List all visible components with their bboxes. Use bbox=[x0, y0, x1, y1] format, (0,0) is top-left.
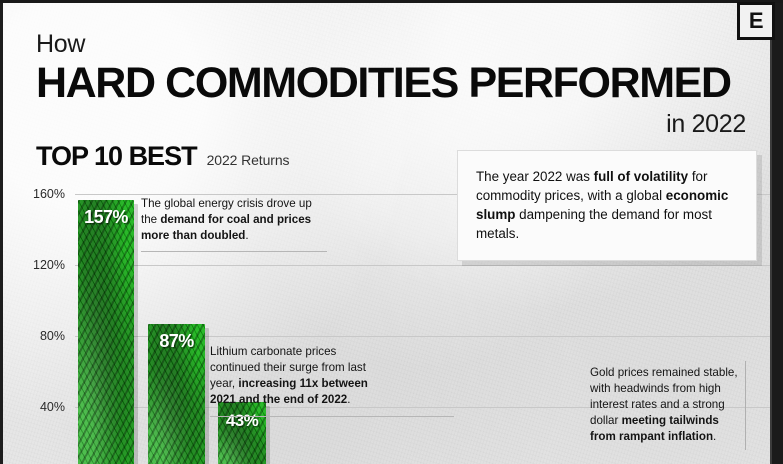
header-kicker: How bbox=[36, 32, 752, 57]
y-axis-tick-label: 120% bbox=[5, 258, 65, 272]
bar-value-label: 157% bbox=[78, 207, 134, 228]
top-border bbox=[0, 0, 783, 3]
annotation-lithium: Lithium carbonate prices continued their… bbox=[210, 344, 380, 408]
infographic-poster: E How HARD COMMODITIES PERFORMED in 2022… bbox=[0, 0, 783, 464]
y-axis-tick-label: 160% bbox=[5, 187, 65, 201]
bar-texture bbox=[78, 200, 134, 464]
y-axis-tick-label: 40% bbox=[5, 400, 65, 414]
header-subtitle: in 2022 bbox=[36, 110, 752, 139]
bar-lithium[interactable]: 87% bbox=[148, 324, 205, 464]
section-note: 2022 Returns bbox=[207, 152, 290, 168]
right-border bbox=[770, 0, 783, 464]
annotation-lithium-rule bbox=[210, 416, 454, 417]
annotation-gold-text-2: . bbox=[713, 430, 716, 443]
y-axis-tick-label: 80% bbox=[5, 329, 65, 343]
callout-text-bold-1: full of volatility bbox=[594, 169, 688, 184]
page-header: How HARD COMMODITIES PERFORMED in 2022 bbox=[36, 32, 752, 139]
callout-text-1: The year 2022 was bbox=[476, 169, 594, 184]
bar-value-label: 43% bbox=[218, 411, 266, 431]
annotation-coal-text-2: . bbox=[245, 229, 248, 242]
annotation-coal: The global energy crisis drove up the de… bbox=[141, 196, 323, 244]
annotation-lithium-text-2: . bbox=[347, 393, 350, 406]
section-heading: TOP 10 BEST 2022 Returns bbox=[36, 143, 289, 170]
gridline bbox=[75, 265, 770, 266]
callout-box: The year 2022 was full of volatility for… bbox=[457, 150, 757, 261]
bar-coal[interactable]: 157% bbox=[78, 200, 134, 464]
bar-value-label: 87% bbox=[148, 331, 205, 352]
bar-gold[interactable]: 43% bbox=[218, 402, 266, 464]
brand-logo: E bbox=[737, 2, 775, 40]
section-title: TOP 10 BEST bbox=[36, 143, 197, 170]
annotation-coal-rule bbox=[141, 251, 327, 252]
annotation-gold: Gold prices remained stable, with headwi… bbox=[590, 365, 738, 444]
annotation-coal-text-bold: demand for coal and prices more than dou… bbox=[141, 213, 311, 242]
left-border bbox=[0, 0, 3, 464]
brand-logo-letter: E bbox=[749, 10, 763, 32]
page-title: HARD COMMODITIES PERFORMED bbox=[36, 61, 752, 106]
